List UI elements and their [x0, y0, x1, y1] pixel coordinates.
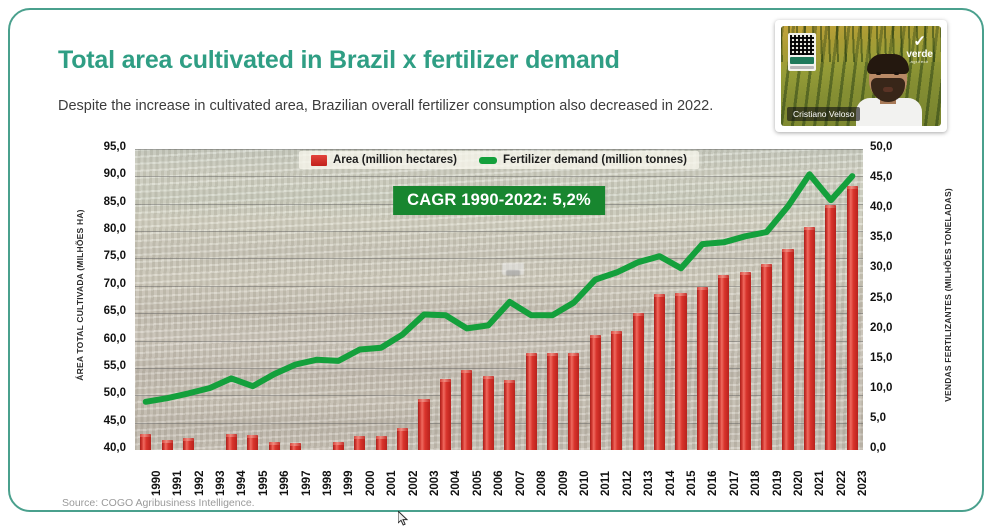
y-axis-tick-label: 40,0 — [80, 442, 126, 454]
y-axis-tick-label: 70,0 — [80, 278, 126, 290]
y-axis-tick-label: 95,0 — [80, 141, 126, 153]
y-axis-tick-label: 75,0 — [80, 250, 126, 262]
y-axis-tick-label: 80,0 — [80, 223, 126, 235]
x-axis-tick-label: 2013 — [643, 470, 655, 496]
page-title: Total area cultivated in Brazil x fertil… — [58, 46, 620, 75]
x-axis-tick-label: 1992 — [194, 470, 206, 496]
y-axis-right-title: VENDAS FERTILIZANTES (MILHÕES TONELADAS) — [943, 180, 953, 410]
x-axis-tick-label: 1990 — [151, 470, 163, 496]
x-axis-tick-label: 2007 — [515, 470, 527, 496]
x-axis-tick-label: 2000 — [365, 470, 377, 496]
legend-label-fertilizer: Fertilizer demand (million tonnes) — [503, 154, 687, 166]
page-subtitle: Despite the increase in cultivated area,… — [58, 98, 713, 114]
y-axis-tick-label: 60,0 — [80, 333, 126, 345]
checkmark-icon: ✓ — [906, 34, 933, 49]
x-axis-tick-label: 2010 — [579, 470, 591, 496]
y-axis-tick-label: 35,0 — [870, 231, 916, 243]
plot-area: Area (million hectares) Fertilizer deman… — [135, 149, 863, 450]
y-axis-tick-label: 50,0 — [870, 141, 916, 153]
x-axis-tick-label: 2002 — [408, 470, 420, 496]
x-axis-tick-label: 1995 — [258, 470, 270, 496]
legend-item-area: Area (million hectares) — [311, 154, 457, 166]
y-axis-tick-label: 10,0 — [870, 382, 916, 394]
y-axis-tick-label: 5,0 — [870, 412, 916, 424]
legend-swatch-line-icon — [479, 157, 497, 164]
x-axis-tick-label: 2014 — [665, 470, 677, 496]
x-axis-tick-label: 1994 — [236, 470, 248, 496]
x-axis-tick-label: 2017 — [729, 470, 741, 496]
y-axis-tick-label: 40,0 — [870, 201, 916, 213]
chart-legend: Area (million hectares) Fertilizer deman… — [299, 151, 699, 169]
video-overlay[interactable]: ✓ verde agritech Cristiano Veloso — [775, 20, 947, 132]
chart: ÁREA TOTAL CULTIVADA (MILHÕES HA) VENDAS… — [58, 140, 938, 485]
x-axis-tick-label: 2008 — [536, 470, 548, 496]
x-axis-tick-label: 2016 — [707, 470, 719, 496]
y-axis-tick-label: 85,0 — [80, 196, 126, 208]
x-axis-tick-label: 2022 — [836, 470, 848, 496]
y-axis-tick-label: 20,0 — [870, 322, 916, 334]
y-axis-tick-label: 15,0 — [870, 352, 916, 364]
y-axis-tick-label: 25,0 — [870, 292, 916, 304]
y-axis-tick-label: 55,0 — [80, 360, 126, 372]
y-axis-tick-label: 45,0 — [870, 171, 916, 183]
speaker-avatar — [858, 54, 920, 126]
legend-swatch-bar-icon — [311, 155, 327, 166]
x-axis-tick-label: 1996 — [279, 470, 291, 496]
x-axis-tick-label: 2005 — [472, 470, 484, 496]
mouse-cursor-icon — [398, 511, 409, 526]
x-axis-tick-label: 1993 — [215, 470, 227, 496]
x-axis-tick-label: 2011 — [600, 471, 612, 496]
y-axis-tick-label: 30,0 — [870, 261, 916, 273]
y-axis-tick-label: 50,0 — [80, 387, 126, 399]
y-axis-tick-label: 45,0 — [80, 415, 126, 427]
legend-item-fertilizer: Fertilizer demand (million tonnes) — [479, 154, 687, 166]
x-axis-tick-label: 2015 — [686, 470, 698, 496]
x-axis-tick-label: 2004 — [450, 470, 462, 496]
legend-label-area: Area (million hectares) — [333, 154, 457, 166]
qr-code-icon — [788, 33, 816, 71]
video-frame: ✓ verde agritech Cristiano Veloso — [781, 26, 941, 126]
x-axis-tick-label: 2023 — [857, 470, 869, 496]
x-axis-tick-label: 2006 — [493, 470, 505, 496]
x-axis-tick-label: 2021 — [814, 470, 826, 496]
x-axis-tick-label: 2018 — [750, 470, 762, 496]
x-axis-tick-label: 2012 — [622, 470, 634, 496]
x-axis-tick-label: 1997 — [301, 470, 313, 496]
y-axis-tick-label: 65,0 — [80, 305, 126, 317]
x-axis-tick-label: 1998 — [322, 470, 334, 496]
speaker-name-label: Cristiano Veloso — [787, 107, 860, 121]
y-axis-tick-label: 0,0 — [870, 442, 916, 454]
x-axis-tick-label: 2003 — [429, 470, 441, 496]
slide-frame: Total area cultivated in Brazil x fertil… — [8, 8, 984, 512]
cagr-annotation: CAGR 1990-2022: 5,2% — [393, 186, 605, 215]
y-axis-tick-label: 90,0 — [80, 168, 126, 180]
x-axis-tick-label: 2009 — [558, 470, 570, 496]
x-axis-tick-label: 2020 — [793, 470, 805, 496]
x-axis-tick-label: 2019 — [772, 470, 784, 496]
x-axis-tick-label: 1999 — [343, 470, 355, 496]
y-axis-left-title: ÁREA TOTAL CULTIVADA (MILHÕES HA) — [75, 180, 85, 410]
x-axis-tick-label: 2001 — [386, 470, 398, 496]
x-axis-labels: 1990199119921993199419951996199719981999… — [135, 452, 863, 512]
x-axis-tick-label: 1991 — [172, 470, 184, 496]
